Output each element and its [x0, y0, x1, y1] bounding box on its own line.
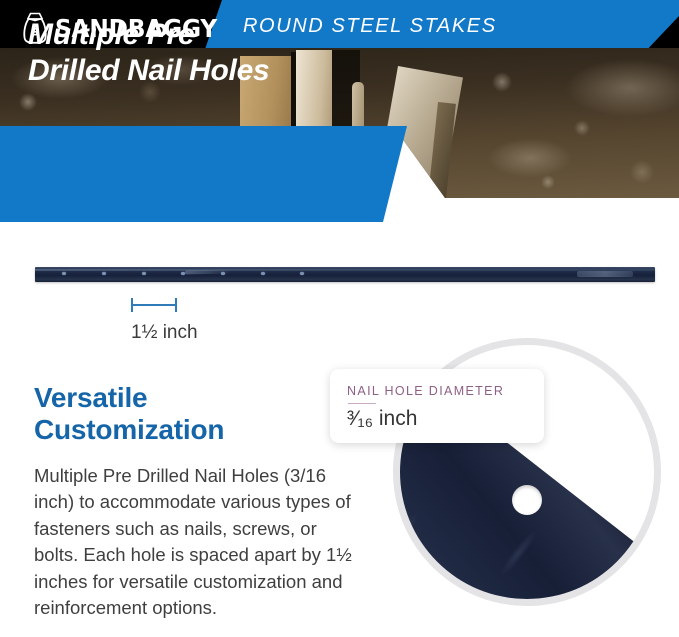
callout-label: NAIL HOLE DIAMETER: [347, 384, 544, 398]
callout-underline: [348, 403, 376, 404]
feature-body-text: Multiple Pre Drilled Nail Holes (3/16 in…: [34, 463, 364, 622]
measurement-label: 1½ inch: [131, 322, 198, 344]
measurement-annotation: 1½ inch: [131, 298, 241, 356]
magnified-nail-hole: [512, 485, 542, 515]
feature-heading: Versatile Customization: [34, 382, 354, 447]
nail-hole-diameter-card: NAIL HOLE DIAMETER ³⁄₁₆ inch: [330, 369, 544, 443]
stake-nail-hole: [142, 272, 146, 275]
stake-nail-hole: [261, 272, 265, 275]
stake-product-image: [35, 267, 655, 282]
stake-nail-hole: [221, 272, 225, 275]
header-subtitle: ROUND STEEL STAKES: [243, 15, 497, 38]
measurement-line: [131, 304, 177, 306]
banner-title: Multiple Pre Drilled Nail Holes: [28, 17, 269, 89]
measurement-bracket-icon: [131, 298, 177, 312]
callout-value: ³⁄₁₆ inch: [347, 407, 544, 431]
hero-rubble-right: [462, 52, 679, 198]
stake-surface-marking: [577, 271, 633, 277]
measurement-cap-right: [175, 298, 177, 312]
measurement-cap-left: [131, 298, 133, 312]
stake-highlight: [35, 269, 655, 271]
